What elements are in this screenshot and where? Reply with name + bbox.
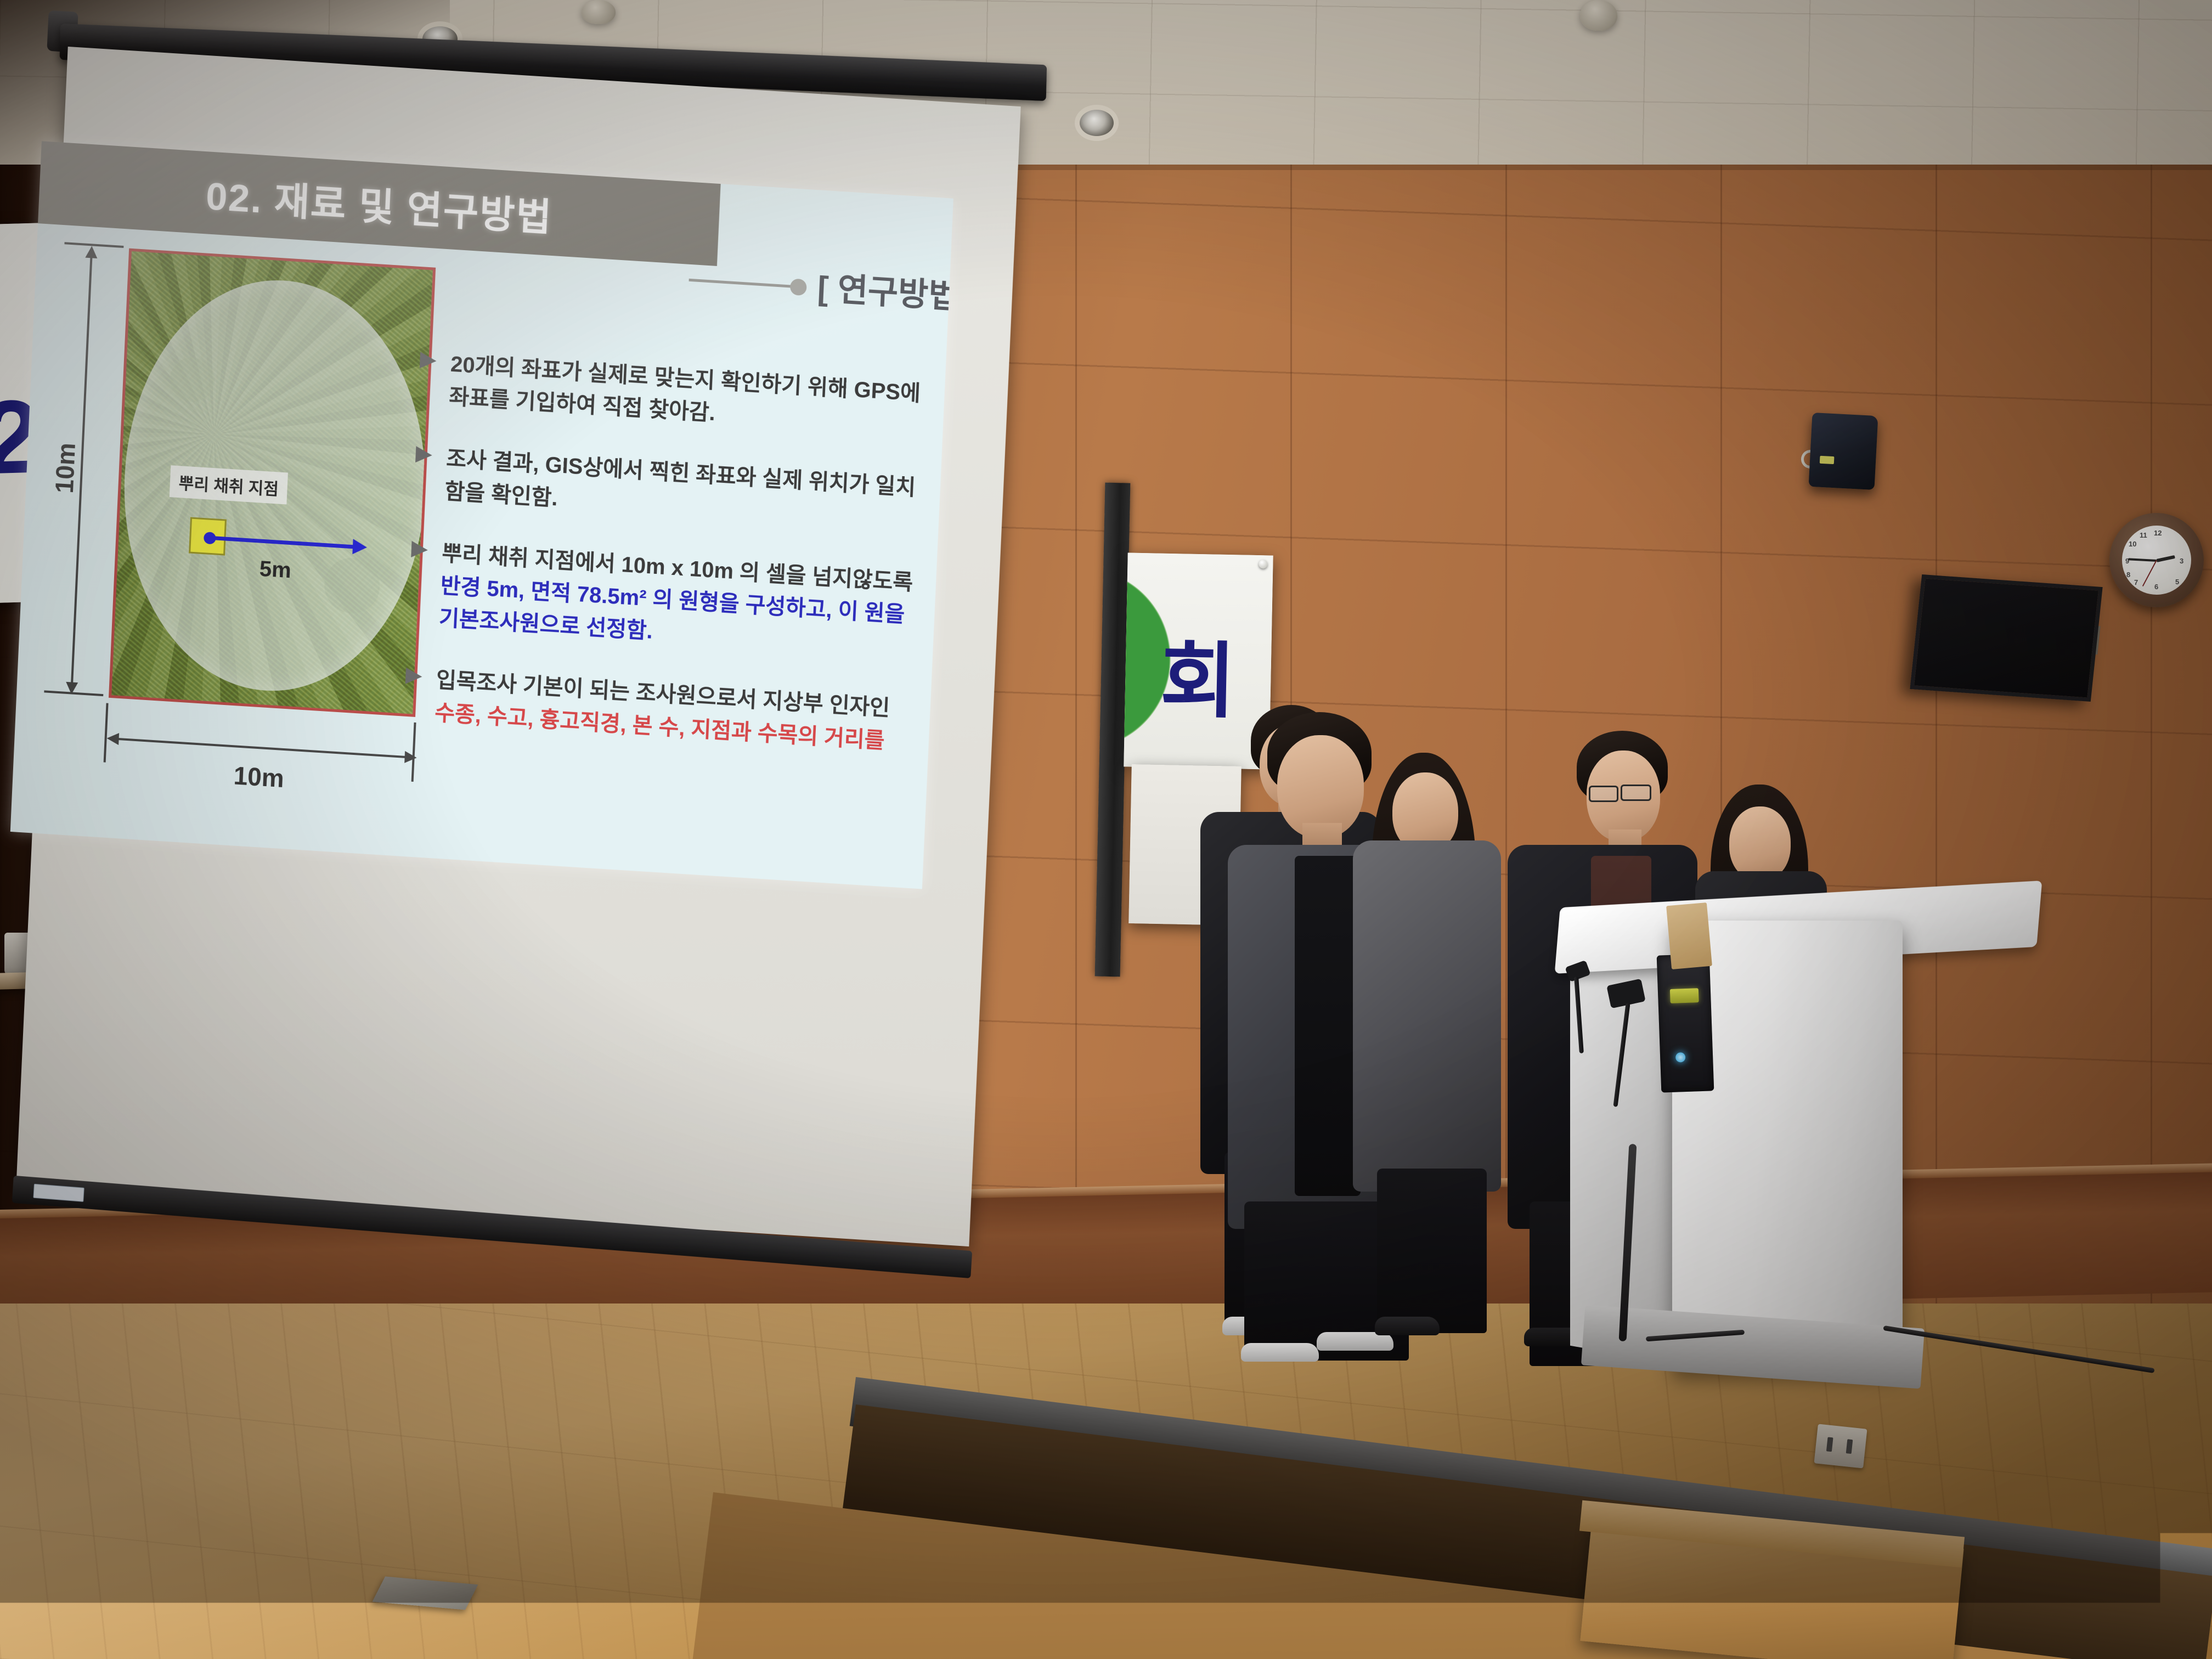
slide-bullet: 뿌리 채취 지점에서 10m x 10m 의 셀을 넘지않도록 반경 5m, 면… <box>407 535 920 665</box>
screen-surface: 02. 재료 및 연구방법 [ 연구방법 ] 10m <box>16 47 1020 1246</box>
slide-connector-dot <box>790 278 807 296</box>
shoe <box>1241 1343 1319 1362</box>
speaker-led-icon <box>1820 456 1835 464</box>
clock-number: 5 <box>2175 578 2179 586</box>
bullet-arrow-icon <box>420 352 437 369</box>
bullet-text: 입목조사 기본이 되는 조사원으로서 지상부 인자인 수종, 수고, 흉고직경,… <box>434 664 915 759</box>
torso <box>1353 840 1501 1192</box>
slide-connector-line <box>689 279 799 289</box>
slide-bullet: 조사 결과, GIS상에서 찍힌 좌표와 실제 위치가 일치함을 확인함. <box>412 441 924 538</box>
clock-minute-hand <box>2128 558 2157 562</box>
clock-number: 6 <box>2154 583 2158 591</box>
screen-brand-plate <box>33 1184 84 1202</box>
clock-number: 10 <box>2129 540 2136 548</box>
smoke-detector-icon <box>582 0 616 24</box>
smoke-detector-icon <box>1580 0 1617 31</box>
dimension-arrow-left-icon <box>106 732 119 745</box>
dimension-arrow-up-icon <box>85 246 98 258</box>
clock-number: 3 <box>2180 557 2183 565</box>
slide-section-tag: [ 연구방법 ] <box>816 262 953 319</box>
legs <box>1377 1169 1487 1333</box>
tape-patch <box>1666 902 1712 969</box>
bullet-arrow-icon <box>411 541 428 558</box>
plot-diagram: 10m 뿌리 채취 지점 5m 10m <box>34 239 404 814</box>
slide-bullet-list: 20개의 좌표가 실제로 맞는지 확인하기 위해 GPS에 좌표를 기입하여 직… <box>401 346 929 788</box>
bullet-arrow-icon <box>405 668 422 685</box>
bullet-text-run: 조사 결과, GIS상에서 찍힌 좌표와 실제 위치가 일치함을 확인함. <box>444 447 916 510</box>
lecture-hall-scene: 2 회 12 3 6 9 5 7 8 10 11 <box>0 0 2212 1659</box>
inner-shirt <box>1295 856 1361 1196</box>
clock-number: 7 <box>2134 578 2138 586</box>
dimension-label-height: 10m <box>49 442 81 494</box>
presentation-slide: 02. 재료 및 연구방법 [ 연구방법 ] 10m <box>10 141 953 889</box>
radius-label: 5m <box>259 557 292 584</box>
clock-number: 12 <box>2154 529 2162 537</box>
clock-number: 11 <box>2140 531 2147 539</box>
radius-arrow-icon <box>352 539 367 555</box>
eyeglasses-icon <box>1589 786 1618 802</box>
slide-title: 02. 재료 및 연구방법 <box>205 165 554 242</box>
av-control-panel[interactable] <box>1657 953 1714 1092</box>
bullet-text-run: 20개의 좌표가 실제로 맞는지 확인하기 위해 GPS에 좌표를 기입하여 직… <box>449 352 921 426</box>
bullet-text: 20개의 좌표가 실제로 맞는지 확인하기 위해 GPS에 좌표를 기입하여 직… <box>448 348 929 443</box>
outlet-slot <box>1826 1437 1833 1452</box>
floor-power-outlet <box>1814 1424 1867 1468</box>
projection-screen: 02. 재료 및 연구방법 [ 연구방법 ] 10m <box>57 33 1203 1324</box>
bullet-text: 조사 결과, GIS상에서 찍힌 좌표와 실제 위치가 일치함을 확인함. <box>444 443 924 538</box>
wall-speaker <box>1809 413 1878 490</box>
dimension-label-width: 10m <box>233 760 285 793</box>
clock-number: 8 <box>2126 571 2130 579</box>
slide-bullet: 입목조사 기본이 되는 조사원으로서 지상부 인자인 수종, 수고, 흉고직경,… <box>402 662 915 759</box>
power-led-icon <box>1675 1052 1686 1063</box>
clock-face: 12 3 6 9 5 7 8 10 11 <box>2122 526 2191 595</box>
shoe <box>1375 1317 1440 1335</box>
eyeglasses-icon <box>1621 785 1651 801</box>
outlet-slot <box>1846 1439 1853 1454</box>
clock-hour-hand <box>2156 555 2175 562</box>
wall-tv-monitor <box>1910 574 2102 702</box>
slide-bullet: 20개의 좌표가 실제로 맞는지 확인하기 위해 GPS에 좌표를 기입하여 직… <box>416 346 929 443</box>
head <box>1729 806 1791 881</box>
dimension-arrow-down-icon <box>65 682 78 695</box>
control-panel-display <box>1670 988 1699 1003</box>
bullet-text: 뿌리 채취 지점에서 10m x 10m 의 셀을 넘지않도록 반경 5m, 면… <box>438 537 920 664</box>
bullet-arrow-icon <box>415 447 432 464</box>
dimension-line-horizontal <box>112 737 411 758</box>
